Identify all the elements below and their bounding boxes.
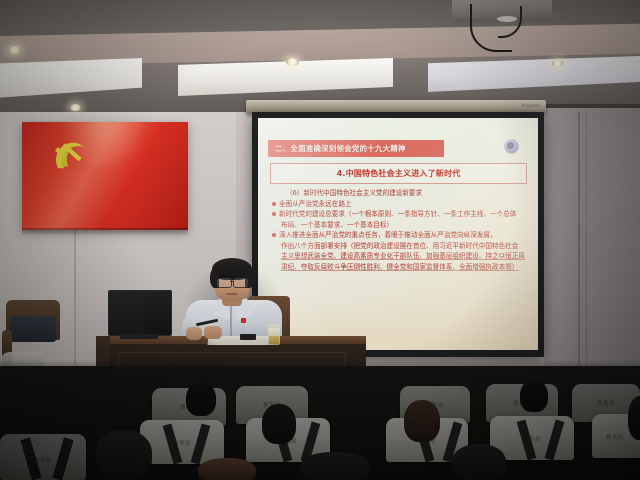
monitor-base [120,334,158,339]
glasses-bridge [230,281,234,282]
slide-banner: 二、全面准确深刻领会党的十九大精神 [268,140,444,157]
slide-bullet-line: 新时代党的建设总要求（一个根本原则、一条指导方针、一条工作主线、一个总体 [272,209,526,220]
slide-body: （6）新时代中国特色社会主义党的建设新要求 全面从严治党永远在路上 新时代党的建… [272,188,526,272]
slide-line: 深入推进全面从严治党的重点任务，着眼于推动全面从严治党向纵深发展， [279,231,497,239]
slide-line: 作出八个方面部署安排（把党的政治建设摆在首位、用习近平新时代中国特色社会 [272,241,526,252]
audience-head [300,452,370,480]
glasses-icon [217,278,232,288]
slide-line: 全面从严治党永远在路上 [279,200,352,208]
presentation-slide: 二、全面准确深刻领会党的十九大精神 4.中国特色社会主义进入了新时代 （6）新时… [258,118,538,350]
slide-line: 新时代党的建设总要求（一个根本原则、一条指导方针、一条工作主线、一个总体 [279,210,516,218]
downlight-icon [70,104,81,111]
slide-line: （6）新时代中国特色社会主义党的建设新要求 [272,188,526,199]
audience-head [520,380,548,412]
hammer-and-sickle-icon [49,138,93,176]
seat-cover-text: 教育局 [597,399,615,407]
documents [214,340,270,345]
water-glass-contents [269,336,279,344]
speaker-hand [204,326,222,339]
bullet-icon [272,212,276,216]
conference-room-photo: Projecta 二、全面准确深刻领会党的十九大精神 4.中国特色社会主义进入了… [0,0,640,480]
downlight-icon [8,46,21,54]
slide-subtitle-box: 4.中国特色社会主义进入了新时代 [270,163,527,184]
slide-subtitle: 4.中国特色社会主义进入了新时代 [337,168,461,179]
slide-line: 主义思想武装全党、建设高素质专业化干部队伍、加强基层组织建设、持之以恒正风 [272,251,526,262]
slide-bullet-line: 深入推进全面从严治党的重点任务，着眼于推动全面从严治党向纵深发展， [272,230,526,241]
audience-head [96,430,152,480]
audience-head [628,396,640,440]
curtain-fold [578,112,580,382]
screen-brand-label: Projecta [521,103,540,108]
slide-line: 肃纪、夺取反腐败斗争压倒性胜利、健全党和国家监督体系、全面增强执政本领） [272,262,526,273]
phone [240,334,256,340]
downlight-icon [286,58,299,66]
speaker-mouth [226,293,237,295]
downlight-icon [552,60,563,67]
party-badge-icon [241,318,246,323]
glasses-icon [233,278,248,288]
curtain-fold [586,112,587,382]
audience-seat: 教育局 [140,420,224,464]
slide-banner-text: 二、全面准确深刻领会党的十九大精神 [268,143,406,154]
audience-head [198,458,256,480]
right-wall-curtain [544,108,640,398]
seat-cover-text: 教育局 [606,433,624,441]
slide-bullet-line: 全面从严治党永远在路上 [272,199,526,210]
side-chair-cushion [10,316,56,342]
slide-logo-inner [507,142,514,149]
audience-head [262,404,296,444]
speaker-hand [186,327,202,340]
slide-line: 布局、一个基本要求、一个基本目标） [272,220,526,231]
audience-head [452,444,506,480]
audience-head [404,400,440,442]
bullet-icon [272,233,276,237]
water-glass-lid [267,324,281,328]
audience-head [186,382,216,416]
bullet-icon [272,202,276,206]
flag-shadow [22,228,188,236]
